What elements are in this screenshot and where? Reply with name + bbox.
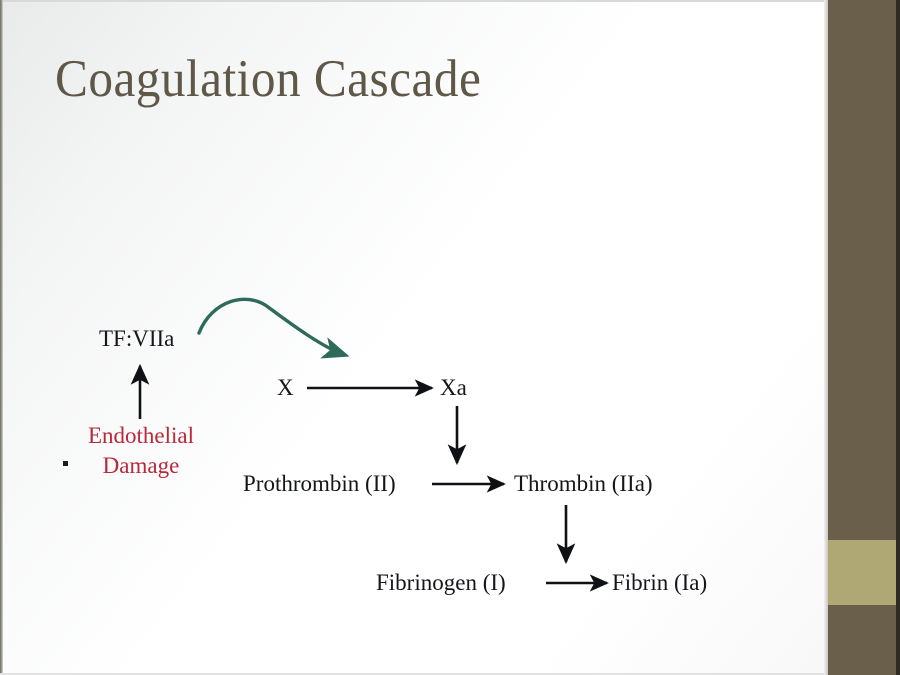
node-fibrin: Fibrin (Ia): [612, 570, 707, 596]
page-title: Coagulation Cascade: [55, 52, 481, 108]
arrow-tfviia-to-xa-curve: [199, 299, 345, 355]
slide-canvas: Coagulation Cascade TF:VIIa Endotheli: [0, 0, 900, 675]
node-endothelial: Endothelial: [76, 423, 206, 449]
slide-top-edge: [0, 0, 900, 2]
node-prothrombin: Prothrombin (II): [243, 471, 396, 497]
node-damage: Damage: [76, 453, 206, 479]
sidebar-right-edge: [896, 0, 900, 675]
node-factor-x: X: [277, 375, 294, 401]
node-tf-viia: TF:VIIa: [99, 326, 174, 352]
bullet-dot: [63, 461, 68, 466]
node-factor-xa: Xa: [440, 375, 467, 401]
node-fibrinogen: Fibrinogen (I): [376, 570, 506, 596]
slide-left-edge: [0, 0, 3, 675]
sidebar-accent-block: [828, 540, 896, 605]
node-thrombin: Thrombin (IIa): [514, 471, 653, 497]
